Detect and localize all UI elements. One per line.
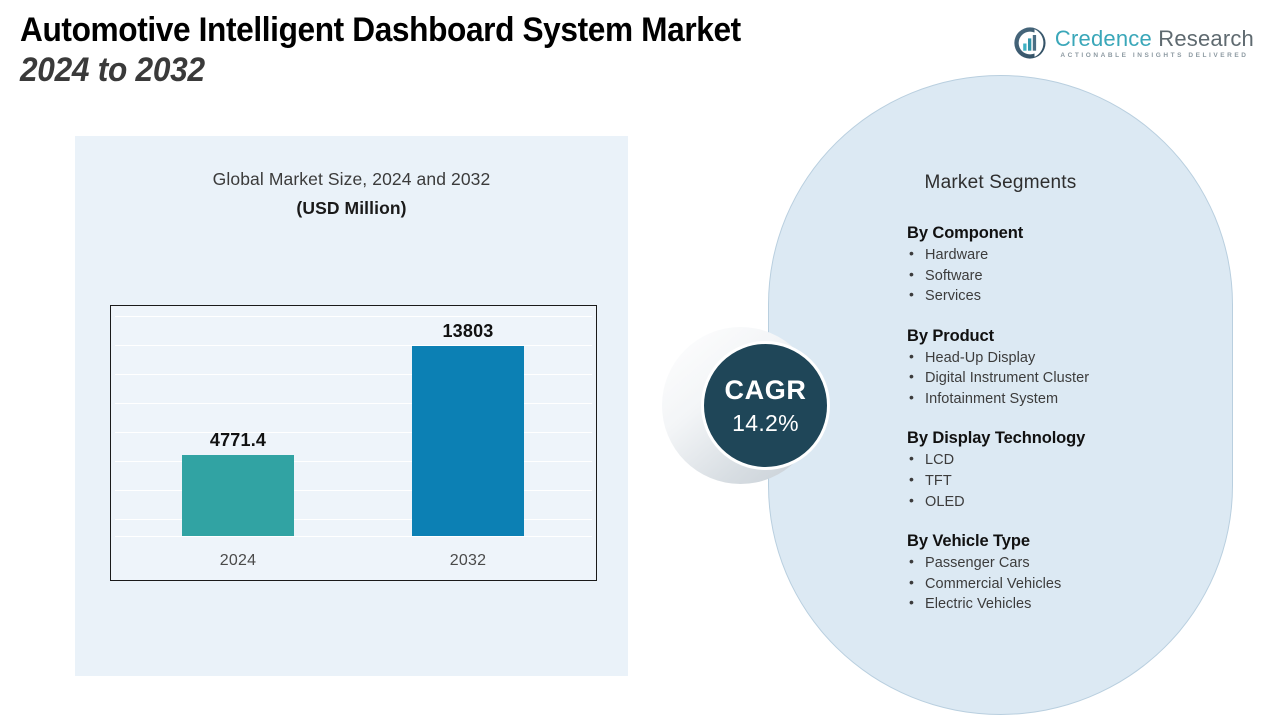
segment-group-by-vehicle-type: By Vehicle Type Passenger Cars Commercia… (903, 532, 1233, 615)
segment-item: Software (903, 266, 1233, 287)
segment-item: Passenger Cars (903, 553, 1233, 574)
segment-heading: By Vehicle Type (907, 532, 1233, 551)
segment-item: Digital Instrument Cluster (903, 368, 1233, 389)
brand-logo: Credence Research Actionable Insights De… (1013, 26, 1254, 60)
category-label-2032: 2032 (412, 552, 524, 570)
bar-2032 (412, 346, 524, 536)
bar-value-2032: 13803 (412, 321, 524, 342)
segment-heading: By Display Technology (907, 429, 1233, 448)
logo-tagline: Actionable Insights Delivered (1055, 52, 1254, 59)
segment-item: Head-Up Display (903, 348, 1233, 369)
cagr-value: 14.2% (732, 412, 799, 435)
logo-text: Credence Research Actionable Insights De… (1055, 27, 1254, 59)
logo-wordmark: Credence Research (1055, 27, 1254, 50)
segment-item: OLED (903, 492, 1233, 513)
segment-heading: By Component (907, 224, 1233, 243)
plot-area: 4771.4 2024 13803 2032 (111, 306, 596, 580)
infographic-page: Automotive Intelligent Dashboard System … (0, 0, 1280, 720)
chart-title: Global Market Size, 2024 and 2032 (75, 169, 628, 190)
segment-item-list: Passenger Cars Commercial Vehicles Elect… (903, 553, 1233, 615)
market-segments-list: By Component Hardware Software Services … (903, 224, 1233, 615)
segment-item: Electric Vehicles (903, 594, 1233, 615)
segment-item-list: Head-Up Display Digital Instrument Clust… (903, 348, 1233, 410)
cagr-badge: CAGR 14.2% (662, 327, 858, 484)
segment-group-by-product: By Product Head-Up Display Digital Instr… (903, 327, 1233, 410)
bar-chart: 4771.4 2024 13803 2032 (110, 305, 597, 581)
segment-heading: By Product (907, 327, 1233, 346)
segment-group-by-component: By Component Hardware Software Services (903, 224, 1233, 307)
bar-value-2024: 4771.4 (182, 430, 294, 451)
market-segments-title: Market Segments (769, 172, 1232, 194)
segment-item: LCD (903, 450, 1233, 471)
page-title-line-2: 2024 to 2032 (20, 50, 857, 91)
page-title-line-1: Automotive Intelligent Dashboard System … (20, 10, 857, 50)
segment-item: Hardware (903, 245, 1233, 266)
cagr-circle: CAGR 14.2% (701, 341, 830, 470)
segment-item-list: Hardware Software Services (903, 245, 1233, 307)
axis-baseline (115, 536, 592, 537)
segment-group-by-display-technology: By Display Technology LCD TFT OLED (903, 429, 1233, 512)
segment-item: Commercial Vehicles (903, 574, 1233, 595)
logo-word-research: Research (1158, 26, 1254, 51)
segment-item: Services (903, 286, 1233, 307)
segment-item: Infotainment System (903, 389, 1233, 410)
page-title: Automotive Intelligent Dashboard System … (20, 10, 920, 91)
segment-item-list: LCD TFT OLED (903, 450, 1233, 512)
bar-2024 (182, 455, 294, 536)
category-label-2024: 2024 (182, 552, 294, 570)
cagr-label: CAGR (725, 377, 807, 404)
gridline (115, 316, 592, 317)
logo-word-credence: Credence (1055, 26, 1152, 51)
bar-chart-circle-icon (1013, 26, 1047, 60)
chart-subtitle: (USD Million) (75, 198, 628, 219)
segment-item: TFT (903, 471, 1233, 492)
